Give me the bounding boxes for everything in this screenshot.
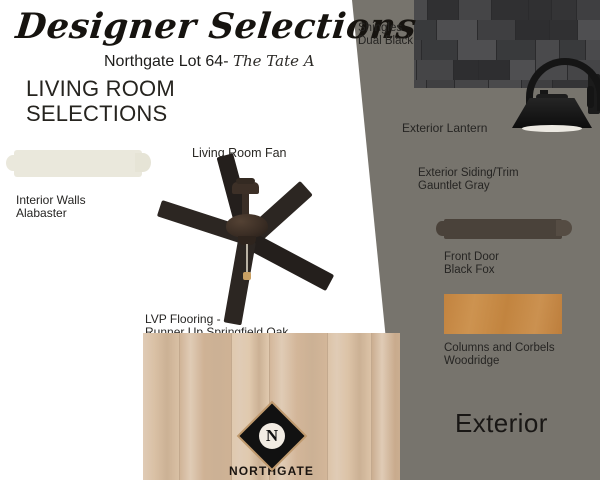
exterior-siding-label-line2: Gauntlet Gray [418, 180, 519, 193]
fan-downrod [242, 192, 249, 216]
section-heading: LIVING ROOM SELECTIONS [26, 76, 175, 126]
lantern-inner-reflector [522, 125, 582, 132]
shingle-tab [414, 80, 427, 88]
section-heading-line2: SELECTIONS [26, 101, 175, 126]
northgate-logo: N NORTHGATE [228, 413, 316, 478]
columns-corbels-swatch [444, 294, 562, 334]
subtitle-plan-name: The Tate A [233, 52, 315, 70]
shingle-tab [455, 80, 490, 88]
lvp-flooring-photo: N NORTHGATE [143, 333, 400, 480]
exterior-panel-heading: Exterior [455, 408, 548, 439]
exterior-lantern-label: Exterior Lantern [402, 122, 487, 135]
interior-walls-label: Interior Walls Alabaster [16, 194, 86, 220]
shingle-row [414, 20, 600, 42]
floor-plank [143, 333, 180, 480]
floor-plank [327, 333, 372, 480]
front-door-label-line1: Front Door [444, 251, 499, 264]
fan-pull-knob [243, 272, 251, 280]
northgate-diamond-icon: N [239, 403, 304, 468]
columns-corbels-label-line1: Columns and Corbels [444, 342, 555, 355]
subtitle-lot: Northgate Lot 64- [104, 53, 229, 70]
shingles-label: Shingles Dual Black [358, 22, 413, 48]
designer-selections-board: Designer Selections Northgate Lot 64- Th… [0, 0, 600, 480]
floor-plank [179, 333, 232, 480]
shingles-label-line2: Dual Black [358, 35, 413, 48]
northgate-monogram: N [259, 423, 285, 449]
interior-walls-label-line2: Alabaster [16, 207, 86, 220]
section-heading-line1: LIVING ROOM [26, 76, 175, 101]
fan-blade [243, 231, 334, 291]
interior-walls-swatch [14, 150, 142, 177]
subtitle: Northgate Lot 64- The Tate A [104, 52, 315, 71]
front-door-label-line2: Black Fox [444, 264, 499, 277]
shingle-tab [427, 80, 455, 88]
columns-corbels-label: Columns and Corbels Woodridge [444, 342, 555, 368]
fan-ceiling-mount [236, 178, 255, 184]
shingles-label-line1: Shingles [358, 22, 413, 35]
shingle-row [414, 0, 600, 22]
fan-pull-chain [246, 244, 248, 274]
columns-corbels-label-line2: Woodridge [444, 355, 555, 368]
exterior-lantern-photo [512, 56, 600, 134]
front-door-swatch [444, 219, 562, 239]
fan-motor-housing [226, 214, 268, 238]
front-door-label: Front Door Black Fox [444, 251, 499, 277]
exterior-siding-label-line1: Exterior Siding/Trim [418, 167, 519, 180]
exterior-siding-label: Exterior Siding/Trim Gauntlet Gray [418, 167, 519, 193]
floor-plank [371, 333, 400, 480]
lantern-arm-drop [587, 86, 594, 108]
living-room-fan-photo [152, 168, 342, 280]
living-room-fan-label: Living Room Fan [192, 147, 287, 160]
